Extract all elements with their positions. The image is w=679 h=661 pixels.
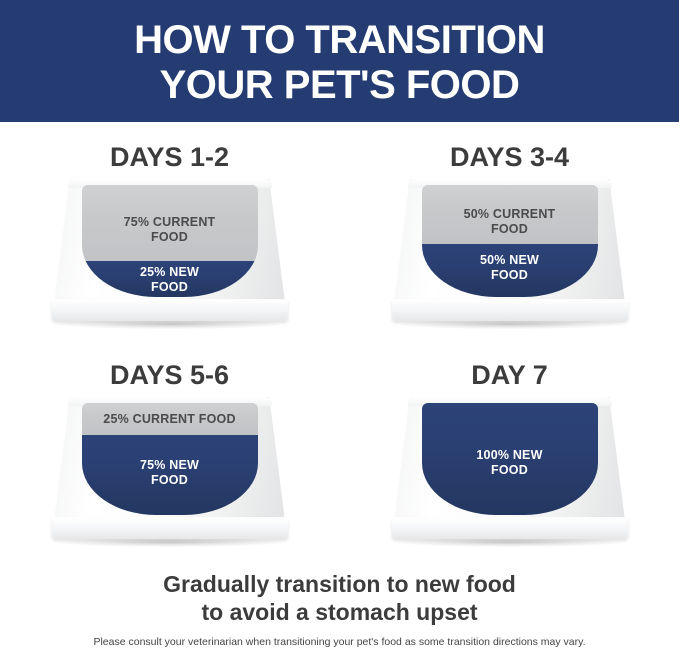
footer-message-line-1: Gradually transition to new food [0,570,679,598]
new-food-label-line-1: 25% NEW [140,265,199,279]
step-day-label: DAYS 3-4 [340,142,679,172]
bowl-base [392,517,628,539]
page-header: HOW TO TRANSITION YOUR PET'S FOOD [0,0,679,122]
bowl-base [52,299,288,321]
transition-step-days-5-6: DAYS 5-6 25% CURRENT FOOD 75% NEW FOOD [0,340,339,560]
bowl-base [52,517,288,539]
current-food-label: 75% CURRENT FOOD [82,215,258,245]
step-day-label: DAYS 1-2 [0,142,339,172]
page-title-line-2: YOUR PET'S FOOD [160,63,520,108]
new-food-label-line-1: 50% NEW [480,253,539,267]
current-food-label: 25% CURRENT FOOD [82,412,258,427]
bowl-contents: 50% CURRENT FOOD 50% NEW FOOD [422,185,598,297]
bowl-base [392,299,628,321]
bowl-shadow [400,539,620,547]
food-bowl: 75% CURRENT FOOD 25% NEW FOOD [54,179,286,329]
transition-steps-grid: DAYS 1-2 75% CURRENT FOOD 25% NEW FOOD [0,122,679,562]
bowl-contents: 75% CURRENT FOOD 25% NEW FOOD [82,185,258,297]
new-food-label: 25% NEW FOOD [82,265,258,295]
new-food-label: 100% NEW FOOD [422,448,598,478]
new-food-label-line-1: 100% NEW [476,448,542,462]
current-food-label-line-1: 50% CURRENT [464,207,556,221]
current-food-label-line-1: 75% CURRENT [124,215,216,229]
new-food-label: 75% NEW FOOD [82,458,258,488]
step-day-label: DAYS 5-6 [0,360,339,390]
step-day-label: DAY 7 [340,360,679,390]
current-food-label-line-1: 25% CURRENT FOOD [103,412,235,426]
footer-message: Gradually transition to new food to avoi… [0,570,679,626]
current-food-label-line-2: FOOD [491,222,528,236]
bowl-shadow [60,539,280,547]
current-food-label-line-2: FOOD [151,230,188,244]
page-title-line-1: HOW TO TRANSITION [134,18,545,63]
bowl-contents: 100% NEW FOOD [422,403,598,515]
new-food-label-line-2: FOOD [491,463,528,477]
transition-step-days-1-2: DAYS 1-2 75% CURRENT FOOD 25% NEW FOOD [0,122,339,342]
transition-step-day-7: DAY 7 100% NEW FOOD [340,340,679,560]
food-bowl: 50% CURRENT FOOD 50% NEW FOOD [394,179,626,329]
new-food-label: 50% NEW FOOD [422,253,598,283]
footer-message-line-2: to avoid a stomach upset [0,598,679,626]
new-food-label-line-2: FOOD [151,473,188,487]
disclaimer-text: Please consult your veterinarian when tr… [0,636,679,649]
bowl-shadow [60,321,280,329]
food-bowl: 100% NEW FOOD [394,397,626,547]
food-bowl: 25% CURRENT FOOD 75% NEW FOOD [54,397,286,547]
new-food-label-line-1: 75% NEW [140,458,199,472]
bowl-contents: 25% CURRENT FOOD 75% NEW FOOD [82,403,258,515]
new-food-label-line-2: FOOD [151,280,188,294]
transition-step-days-3-4: DAYS 3-4 50% CURRENT FOOD 50% NEW FOOD [340,122,679,342]
bowl-shadow [400,321,620,329]
new-food-label-line-2: FOOD [491,268,528,282]
current-food-label: 50% CURRENT FOOD [422,207,598,237]
